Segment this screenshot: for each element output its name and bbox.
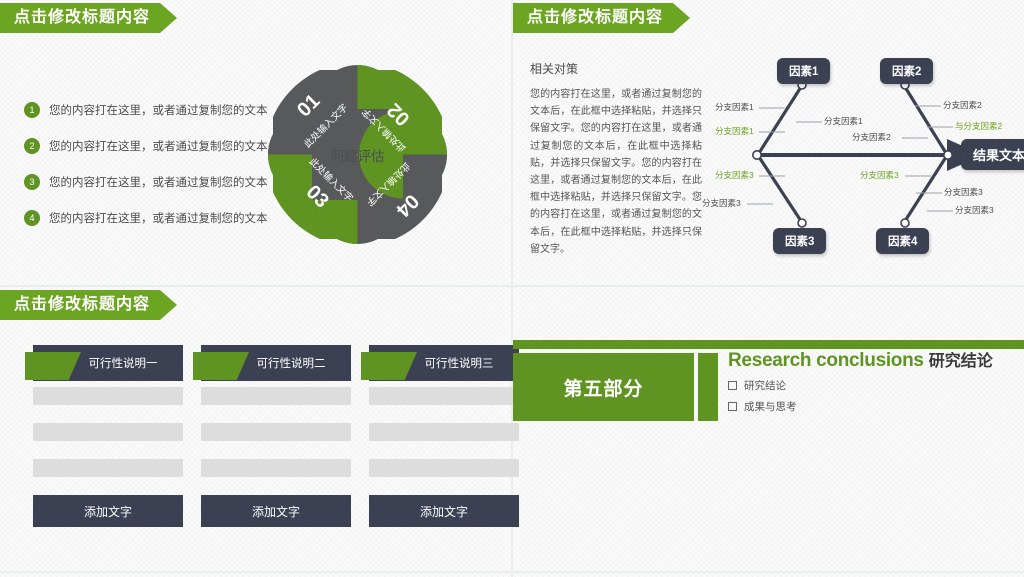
fishbone-factor-4[interactable]: 因素4 — [876, 228, 929, 254]
branch-label-4: 分支因素2 — [943, 99, 982, 111]
slide-canvas: 点击修改标题内容 1 您的内容打在这里，或者通过复制您的文本 2 您的内容打在这… — [0, 0, 1024, 577]
column-header[interactable]: 可行性说明三 — [369, 345, 519, 381]
banner-top-left: 点击修改标题内容 — [0, 3, 177, 33]
donut-center-label: 问题评估 — [331, 145, 385, 165]
section-item-label: 成果与思考 — [744, 399, 797, 414]
panel-top-right: 点击修改标题内容 相关对策 您的内容打在这里，或者通过复制您的文本后，在此框中选… — [513, 0, 1024, 285]
table-row[interactable] — [369, 387, 519, 405]
banner-title: 点击修改标题内容 — [527, 10, 663, 26]
checkbox-icon — [728, 402, 737, 411]
fishbone-body-text: 您的内容打在这里，或者通过复制您的文本后，在此框中选择粘贴，并选择只保留文字。您… — [530, 86, 702, 258]
table-row[interactable] — [201, 459, 351, 477]
section-number-block[interactable]: 第五部分 — [513, 353, 694, 421]
column-1: 可行性说明一 添加文字 — [33, 345, 183, 527]
column-header[interactable]: 可行性说明一 — [33, 345, 183, 381]
branch-label-2: 分支因素1 — [715, 125, 754, 137]
donut-diagram: 01 此处输入文字 02 此处输入文字 03 此处输入文字 04 此处输入文字 … — [265, 62, 450, 247]
fishbone-result-box[interactable]: 结果文本 — [961, 139, 1024, 170]
fishbone-heading: 相关对策 — [530, 60, 578, 77]
bullet-text: 您的内容打在这里，或者通过复制您的文本 — [49, 138, 268, 154]
column-3: 可行性说明三 添加文字 — [369, 345, 519, 527]
table-row[interactable] — [201, 423, 351, 441]
branch-label-9: 分支因素3 — [860, 169, 899, 181]
bullet-list: 1 您的内容打在这里，或者通过复制您的文本 2 您的内容打在这里，或者通过复制您… — [24, 95, 268, 239]
banner-body: 点击修改标题内容 — [0, 3, 160, 33]
branch-label-5: 与分支因素2 — [955, 120, 1002, 132]
column-footer-button[interactable]: 添加文字 — [369, 495, 519, 527]
column-footer-button[interactable]: 添加文字 — [33, 495, 183, 527]
feasibility-columns: 可行性说明一 添加文字 可行性说明二 — [33, 345, 519, 527]
column-footer-button[interactable]: 添加文字 — [201, 495, 351, 527]
column-header-label: 可行性说明一 — [59, 355, 158, 371]
fishbone-factor-2[interactable]: 因素2 — [880, 58, 933, 84]
bullet-number: 4 — [24, 210, 40, 226]
section-detail: Research conclusions研究结论 研究结论 成果与思考 — [728, 351, 1018, 414]
branch-label-7: 分支因素3 — [715, 169, 754, 181]
panel-bottom-left: 点击修改标题内容 可行性说明一 添加文字 可行性说 — [0, 287, 511, 572]
list-item[interactable]: 4 您的内容打在这里，或者通过复制您的文本 — [24, 203, 268, 232]
column-header[interactable]: 可行性说明二 — [201, 345, 351, 381]
section-title-en: Research conclusions — [728, 350, 924, 371]
column-2: 可行性说明二 添加文字 — [201, 345, 351, 527]
section-item-1[interactable]: 研究结论 — [728, 378, 1018, 393]
bullet-number: 1 — [24, 102, 40, 118]
panel-top-left: 点击修改标题内容 1 您的内容打在这里，或者通过复制您的文本 2 您的内容打在这… — [0, 0, 511, 285]
section-title-cn: 研究结论 — [929, 353, 993, 370]
column-rows — [33, 387, 183, 477]
branch-label-3: 分支因素1 — [824, 115, 863, 127]
column-header-label: 可行性说明三 — [395, 355, 494, 371]
fishbone-factor-3[interactable]: 因素3 — [773, 228, 826, 254]
banner-title: 点击修改标题内容 — [14, 297, 150, 313]
section-top-strip — [513, 340, 1024, 349]
branch-label-11: 分支因素3 — [955, 204, 994, 216]
list-item[interactable]: 1 您的内容打在这里，或者通过复制您的文本 — [24, 95, 268, 124]
column-rows — [369, 387, 519, 477]
table-row[interactable] — [201, 387, 351, 405]
fishbone-factor-1[interactable]: 因素1 — [777, 58, 830, 84]
table-row[interactable] — [369, 459, 519, 477]
bullet-number: 2 — [24, 138, 40, 154]
banner-top-right: 点击修改标题内容 — [513, 3, 690, 33]
section-number-label: 第五部分 — [563, 374, 643, 401]
list-item[interactable]: 3 您的内容打在这里，或者通过复制您的文本 — [24, 167, 268, 196]
column-rows — [201, 387, 351, 477]
section-item-2[interactable]: 成果与思考 — [728, 399, 1018, 414]
section-item-label: 研究结论 — [744, 378, 786, 393]
bullet-text: 您的内容打在这里，或者通过复制您的文本 — [49, 174, 268, 190]
banner-arrow-tip — [160, 290, 177, 320]
branch-label-8: 分支因素3 — [702, 197, 741, 209]
banner-bottom-left: 点击修改标题内容 — [0, 290, 177, 320]
banner-body: 点击修改标题内容 — [513, 3, 673, 33]
bullet-number: 3 — [24, 174, 40, 190]
banner-body: 点击修改标题内容 — [0, 290, 160, 320]
panel-bottom-right: 第五部分 Research conclusions研究结论 研究结论 成果与思考 — [513, 287, 1024, 572]
checkbox-icon — [728, 381, 737, 390]
banner-arrow-tip — [673, 3, 690, 33]
banner-arrow-tip — [160, 3, 177, 33]
fishbone-diagram: 因素1 因素2 因素3 因素4 结果文本 分支因素1 分支因素1 分支因素1 分… — [703, 48, 1024, 263]
list-item[interactable]: 2 您的内容打在这里，或者通过复制您的文本 — [24, 131, 268, 160]
branch-label-1: 分支因素1 — [715, 101, 754, 113]
table-row[interactable] — [369, 423, 519, 441]
table-row[interactable] — [33, 387, 183, 405]
bullet-text: 您的内容打在这里，或者通过复制您的文本 — [49, 210, 268, 226]
table-row[interactable] — [33, 423, 183, 441]
column-header-label: 可行性说明二 — [227, 355, 326, 371]
banner-title: 点击修改标题内容 — [14, 10, 150, 26]
section-accent-bar — [698, 353, 718, 421]
branch-label-6: 分支因素2 — [852, 131, 891, 143]
table-row[interactable] — [33, 459, 183, 477]
bullet-text: 您的内容打在这里，或者通过复制您的文本 — [49, 102, 268, 118]
branch-label-10: 分支因素3 — [944, 186, 983, 198]
section-title: Research conclusions研究结论 — [728, 351, 1018, 372]
